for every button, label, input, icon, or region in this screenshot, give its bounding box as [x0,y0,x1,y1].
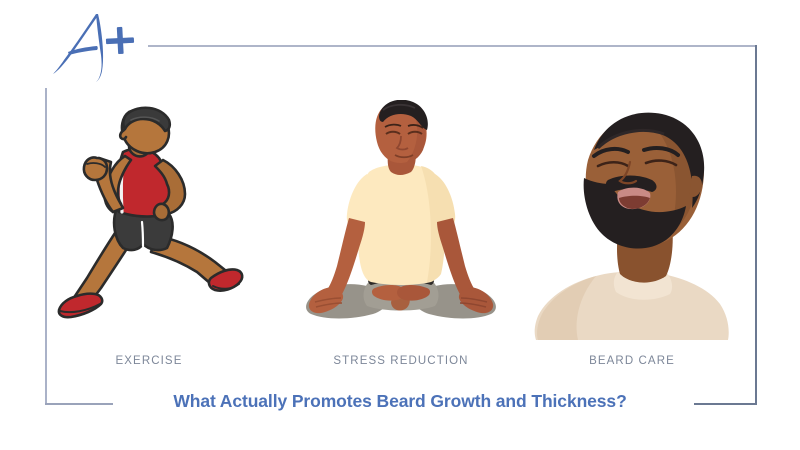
frame-border-right [755,45,757,403]
meditating-man-illustration [291,100,511,340]
frame-border-top [148,45,757,47]
page-title: What Actually Promotes Beard Growth and … [0,391,800,412]
card-label-exercise: EXERCISE [39,355,259,367]
card-label-stress-reduction: STRESS REDUCTION [291,355,511,367]
card-stress-reduction: STRESS REDUCTION [291,100,511,380]
card-label-beard-care: BEARD CARE [522,355,742,367]
infographic-canvas: EXERCISE [0,0,800,450]
running-man-illustration [39,100,259,340]
card-beard-care: BEARD CARE [522,100,742,380]
card-exercise: EXERCISE [39,100,259,380]
a-plus-icon [52,8,142,84]
brand-logo-a-plus [52,8,142,84]
bearded-man-illustration [522,100,742,340]
